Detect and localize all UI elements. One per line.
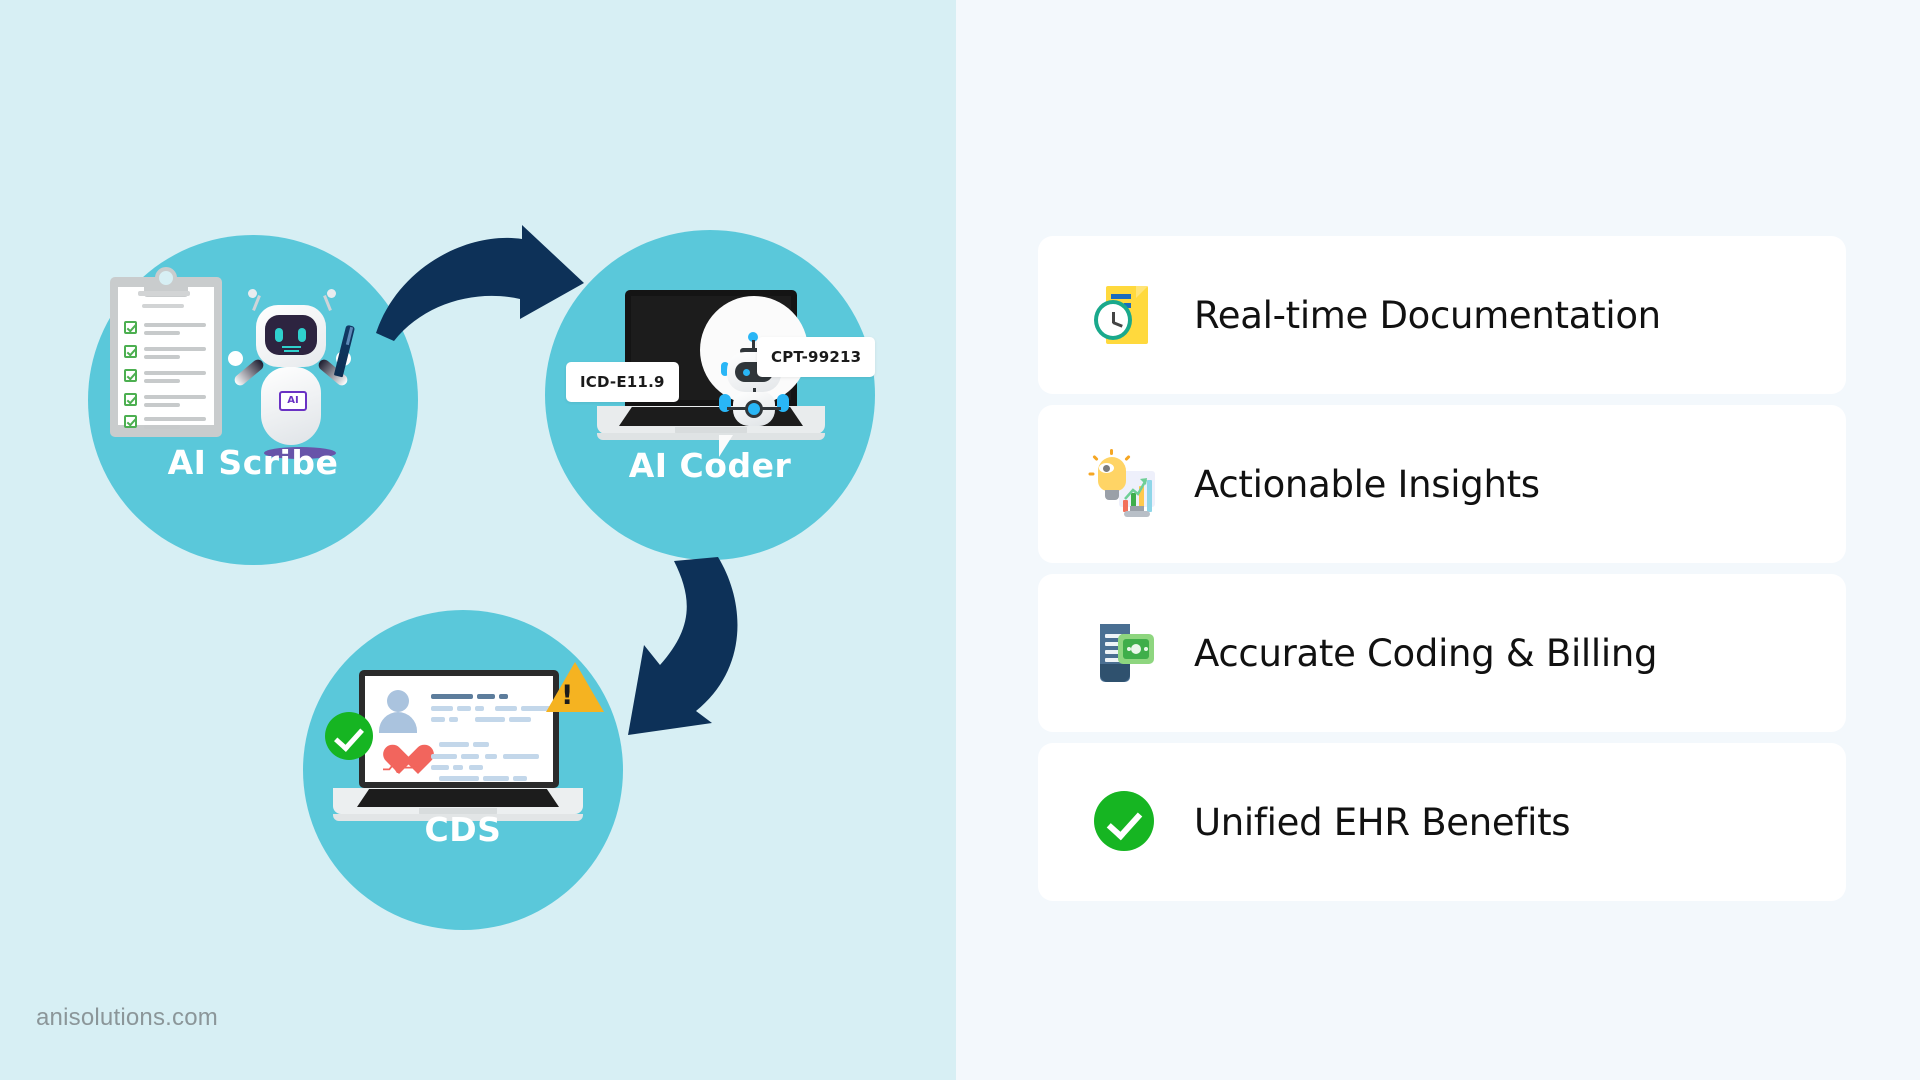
lightbulb-chart-icon (1092, 451, 1158, 517)
feature-card-accurate-coding-billing[interactable]: Accurate Coding & Billing (1038, 574, 1846, 732)
feature-label: Accurate Coding & Billing (1194, 632, 1657, 675)
heart-rate-icon (381, 746, 417, 778)
arrow-scribe-to-coder-icon (372, 215, 592, 360)
features-panel: Real-time Documentation (956, 0, 1920, 1080)
cds-success-check-icon (325, 712, 373, 760)
code-tag-icd: ICD-E11.9 (566, 362, 679, 402)
clipboard-checklist-icon (110, 277, 222, 437)
workflow-node-label-ai-scribe: AI Scribe (88, 443, 418, 482)
cds-warning-triangle-icon (546, 662, 604, 712)
receipt-money-icon (1092, 620, 1158, 686)
feature-label: Real-time Documentation (1194, 294, 1661, 337)
feature-label: Unified EHR Benefits (1194, 801, 1570, 844)
workflow-diagram-panel: AI AI Scribe (0, 0, 956, 1080)
feature-list: Real-time Documentation (1038, 236, 1846, 901)
arrow-coder-to-cds-icon (600, 555, 800, 750)
scribe-robot-icon: AI (228, 287, 358, 462)
feature-card-actionable-insights[interactable]: Actionable Insights (1038, 405, 1846, 563)
workflow-node-label-cds: CDS (303, 810, 623, 849)
feature-label: Actionable Insights (1194, 463, 1540, 506)
clock-document-icon (1092, 282, 1158, 348)
code-tag-cpt: CPT-99213 (757, 337, 875, 377)
workflow-node-ai-scribe[interactable]: AI AI Scribe (88, 235, 418, 565)
robot-ai-badge: AI (279, 391, 307, 411)
cds-warning-glyph: ! (561, 682, 573, 709)
watermark-domain: anisolutions.com (36, 1004, 218, 1032)
feature-card-unified-ehr-benefits[interactable]: Unified EHR Benefits (1038, 743, 1846, 901)
infographic-page: AI AI Scribe (0, 0, 1920, 1080)
green-check-icon (1092, 789, 1158, 855)
workflow-node-label-ai-coder: AI Coder (545, 446, 875, 485)
workflow-node-cds[interactable]: ! CDS (303, 610, 623, 930)
feature-card-real-time-documentation[interactable]: Real-time Documentation (1038, 236, 1846, 394)
